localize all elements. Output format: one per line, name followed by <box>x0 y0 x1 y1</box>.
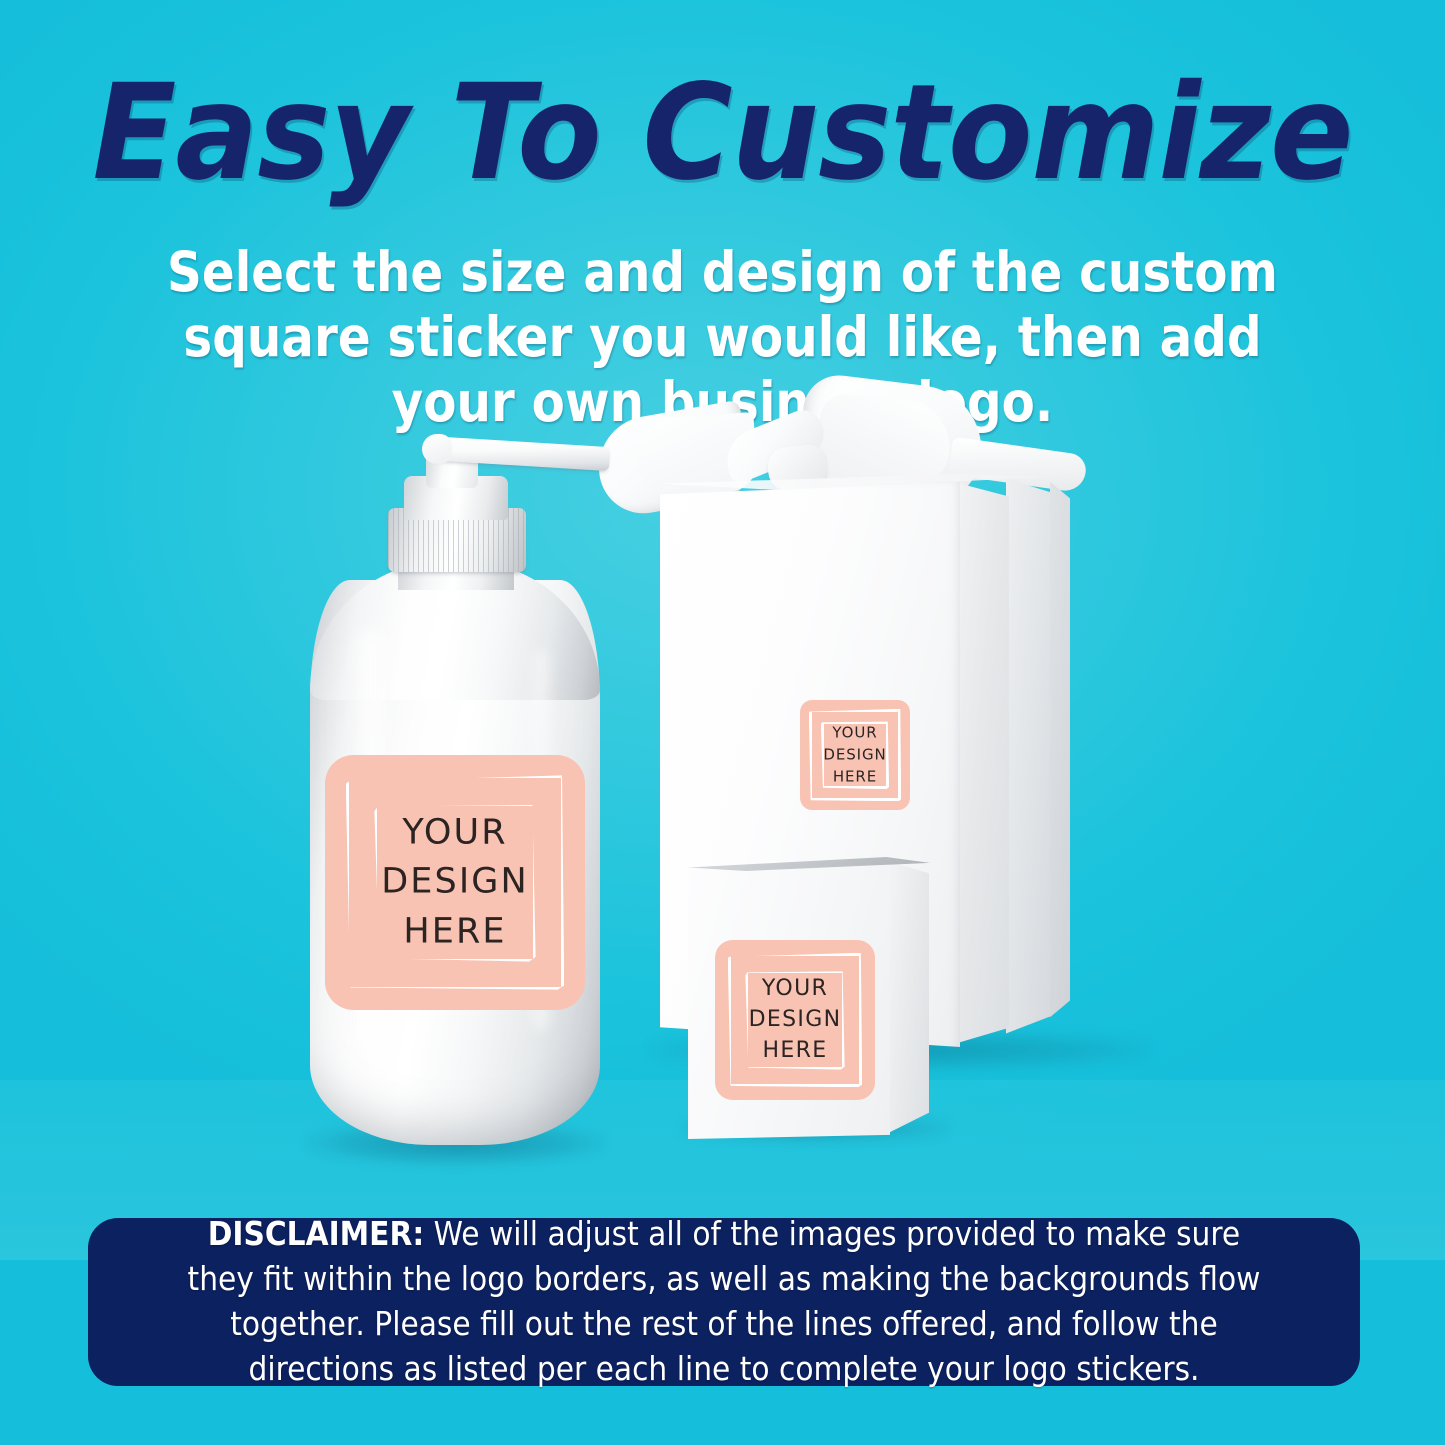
sticker-text-line-2: DESIGN <box>800 744 910 766</box>
gift-box-lid-flap <box>1006 474 1050 1042</box>
sticker-on-bottle[interactable]: YOUR DESIGN HERE <box>325 755 585 1010</box>
sticker-text-line-1: YOUR <box>715 973 875 1004</box>
sticker-text: YOUR DESIGN HERE <box>800 722 910 787</box>
sticker-text-line-3: HERE <box>715 1036 875 1067</box>
disclaimer-text: DISCLAIMER: We will adjust all of the im… <box>182 1212 1266 1392</box>
sticker-text-line-2: DESIGN <box>715 1004 875 1035</box>
sticker-text-line-1: YOUR <box>800 722 910 744</box>
pump-nozzle-cap <box>422 434 452 464</box>
sticker-text-line-2: DESIGN <box>325 858 585 908</box>
gift-box-side-panel <box>957 476 1009 1046</box>
sticker-text-line-3: HERE <box>800 766 910 788</box>
page-title: Easy To Customize <box>51 66 1395 201</box>
small-box-side-panel <box>887 855 929 1135</box>
sticker-text-line-1: YOUR <box>325 808 585 858</box>
disclaimer-box: DISCLAIMER: We will adjust all of the im… <box>88 1218 1360 1386</box>
sticker-on-gift-box[interactable]: YOUR DESIGN HERE <box>800 700 910 810</box>
disclaimer-label: DISCLAIMER: <box>208 1214 424 1253</box>
gift-box-back-edge <box>1050 476 1070 1034</box>
sticker-text-line-3: HERE <box>325 907 585 957</box>
sticker-text: YOUR DESIGN HERE <box>715 973 875 1067</box>
sticker-on-small-box[interactable]: YOUR DESIGN HERE <box>715 940 875 1100</box>
sticker-text: YOUR DESIGN HERE <box>325 808 585 957</box>
